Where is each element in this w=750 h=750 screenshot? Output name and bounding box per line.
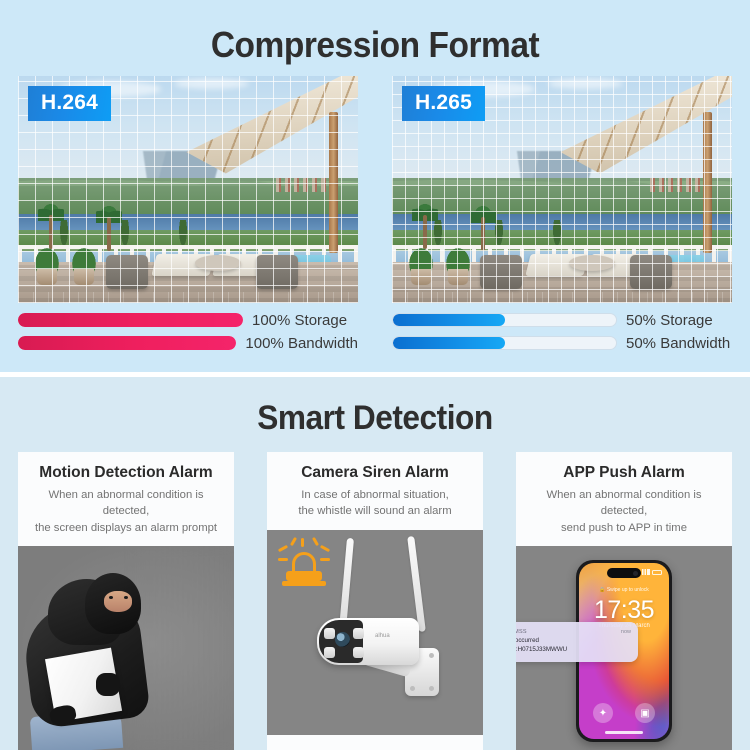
push-notification[interactable]: DMSS now Alarm occurred Device:H0715J33M… xyxy=(516,622,638,662)
flashlight-icon[interactable]: ✦ xyxy=(593,703,613,723)
patio-tiles xyxy=(18,292,358,303)
bar-track xyxy=(18,313,243,327)
palm-tree xyxy=(470,205,496,251)
card-desc-app-push-line2: send push to APP in time xyxy=(522,520,726,536)
camera-brand-label: alhua xyxy=(375,633,390,639)
card-desc-motion-line1: When an abnormal condition is detected, xyxy=(24,487,228,520)
siren-dome xyxy=(292,552,316,572)
siren-icon xyxy=(276,538,332,590)
palm-tree xyxy=(412,203,438,249)
video-preview-h265: H.265 xyxy=(392,76,732,303)
lock-hint-text: Swipe up to unlock xyxy=(607,587,649,593)
card-camera-siren: Camera Siren Alarm In case of abnormal s… xyxy=(267,452,483,750)
notification-app-name: DMSS xyxy=(516,629,527,635)
notification-header: DMSS now xyxy=(516,627,631,636)
battery-icon xyxy=(652,570,662,575)
bar-fill xyxy=(18,313,243,327)
front-camera-icon xyxy=(633,571,638,576)
lockscreen-time: 17:35 xyxy=(579,596,669,625)
video-preview-h264: H.264 xyxy=(18,76,358,303)
planter xyxy=(32,245,62,285)
status-bar xyxy=(642,569,662,575)
umbrella-pole xyxy=(703,112,712,253)
umbrella-pole xyxy=(329,112,338,253)
codec-badge-h265: H.265 xyxy=(402,86,485,121)
bar-fill xyxy=(393,314,505,326)
compression-title: Compression Format xyxy=(26,24,724,66)
burglar-glove xyxy=(96,673,120,696)
card-app-push: APP Push Alarm When an abnormal conditio… xyxy=(516,452,732,750)
promo-page: Compression Format xyxy=(0,0,750,750)
compression-section: Compression Format xyxy=(0,0,750,372)
bar-fill xyxy=(393,337,505,349)
camera-ir-led xyxy=(353,628,364,639)
palm-tree xyxy=(96,205,122,251)
card-desc-app-push-line1: When an abnormal condition is detected, xyxy=(522,487,726,520)
card-desc-motion-line2: the screen displays an alarm prompt xyxy=(24,520,228,536)
planter xyxy=(406,245,436,285)
bars-h265: 50% Storage 50% Bandwidth xyxy=(392,312,732,351)
phone-illustration: 🔒 Swipe up to unlock 17:35 Thursday 24 M… xyxy=(516,546,732,750)
siren-foot xyxy=(282,581,326,586)
card-header: Motion Detection Alarm When an abnormal … xyxy=(18,452,234,546)
card-title-siren: Camera Siren Alarm xyxy=(273,464,477,482)
bar-label-storage-h265: 50% Storage xyxy=(626,312,713,329)
cloud xyxy=(174,78,249,89)
dynamic-island xyxy=(607,568,641,578)
patio-chair xyxy=(256,255,298,289)
signal-icon xyxy=(642,569,650,575)
card-motion-detection: Motion Detection Alarm When an abnormal … xyxy=(18,452,234,750)
bar-label-storage-h264: 100% Storage xyxy=(252,312,347,329)
bar-label-bandwidth-h265: 50% Bandwidth xyxy=(626,335,730,352)
codec-panel-h265: H.265 50% Storage 50% Bandwidth xyxy=(392,76,732,358)
notification-time: now xyxy=(621,629,631,635)
card-header: APP Push Alarm When an abnormal conditio… xyxy=(516,452,732,546)
bar-row-bandwidth-h265: 50% Bandwidth xyxy=(392,335,732,351)
palm-tree xyxy=(38,203,64,249)
bar-label-bandwidth-h264: 100% Bandwidth xyxy=(245,335,358,352)
notification-line1: Alarm occurred xyxy=(516,636,631,645)
card-image-phone: 🔒 Swipe up to unlock 17:35 Thursday 24 M… xyxy=(516,546,732,750)
planter xyxy=(443,245,473,285)
camera-ir-led xyxy=(353,647,364,658)
bar-row-storage-h265: 50% Storage xyxy=(392,312,732,328)
camera-ir-led xyxy=(324,647,335,658)
card-title-app-push: APP Push Alarm xyxy=(522,464,726,482)
camera-ir-led xyxy=(324,628,335,639)
card-image-burglar xyxy=(18,546,234,750)
burglar-face xyxy=(104,591,132,612)
patio-chair xyxy=(480,255,522,289)
cloud xyxy=(548,78,623,89)
patio-chair xyxy=(630,255,672,289)
siren-base xyxy=(286,571,322,581)
bar-track xyxy=(18,336,236,350)
bar-track xyxy=(392,313,617,327)
bar-fill xyxy=(18,336,236,350)
burglar-illustration xyxy=(18,546,234,750)
home-indicator xyxy=(605,731,643,734)
feature-cards: Motion Detection Alarm When an abnormal … xyxy=(18,452,732,750)
planter xyxy=(69,245,99,285)
codec-badge-h264: H.264 xyxy=(28,86,111,121)
camera-shortcut-icon[interactable]: ▣ xyxy=(635,703,655,723)
lock-hint: 🔒 Swipe up to unlock xyxy=(579,587,669,593)
card-title-motion: Motion Detection Alarm xyxy=(24,464,228,482)
card-image-camera: alhua xyxy=(267,530,483,735)
smart-detection-title: Smart Detection xyxy=(26,399,724,438)
patio-tiles xyxy=(392,292,732,303)
card-header: Camera Siren Alarm In case of abnormal s… xyxy=(267,452,483,530)
bars-h264: 100% Storage 100% Bandwidth xyxy=(18,312,358,351)
motion-blur xyxy=(137,546,234,750)
camera-antenna xyxy=(339,538,354,630)
codec-panel-h264: H.264 100% Storage 100% Bandwidth xyxy=(18,76,358,358)
notification-line2: Device:H0715J33MWWU xyxy=(516,645,631,654)
camera-illustration: alhua xyxy=(267,530,483,735)
bar-row-storage-h264: 100% Storage xyxy=(18,312,358,328)
smart-detection-section: Smart Detection Motion Detection Alarm W… xyxy=(0,377,750,750)
bar-track xyxy=(392,336,617,350)
card-desc-siren-line1: In case of abnormal situation, xyxy=(273,487,477,503)
bar-row-bandwidth-h264: 100% Bandwidth xyxy=(18,335,358,351)
card-desc-siren-line2: the whistle will sound an alarm xyxy=(273,503,477,519)
camera-lens xyxy=(335,632,350,647)
lock-icon: 🔒 xyxy=(599,587,605,593)
patio-chair xyxy=(106,255,148,289)
